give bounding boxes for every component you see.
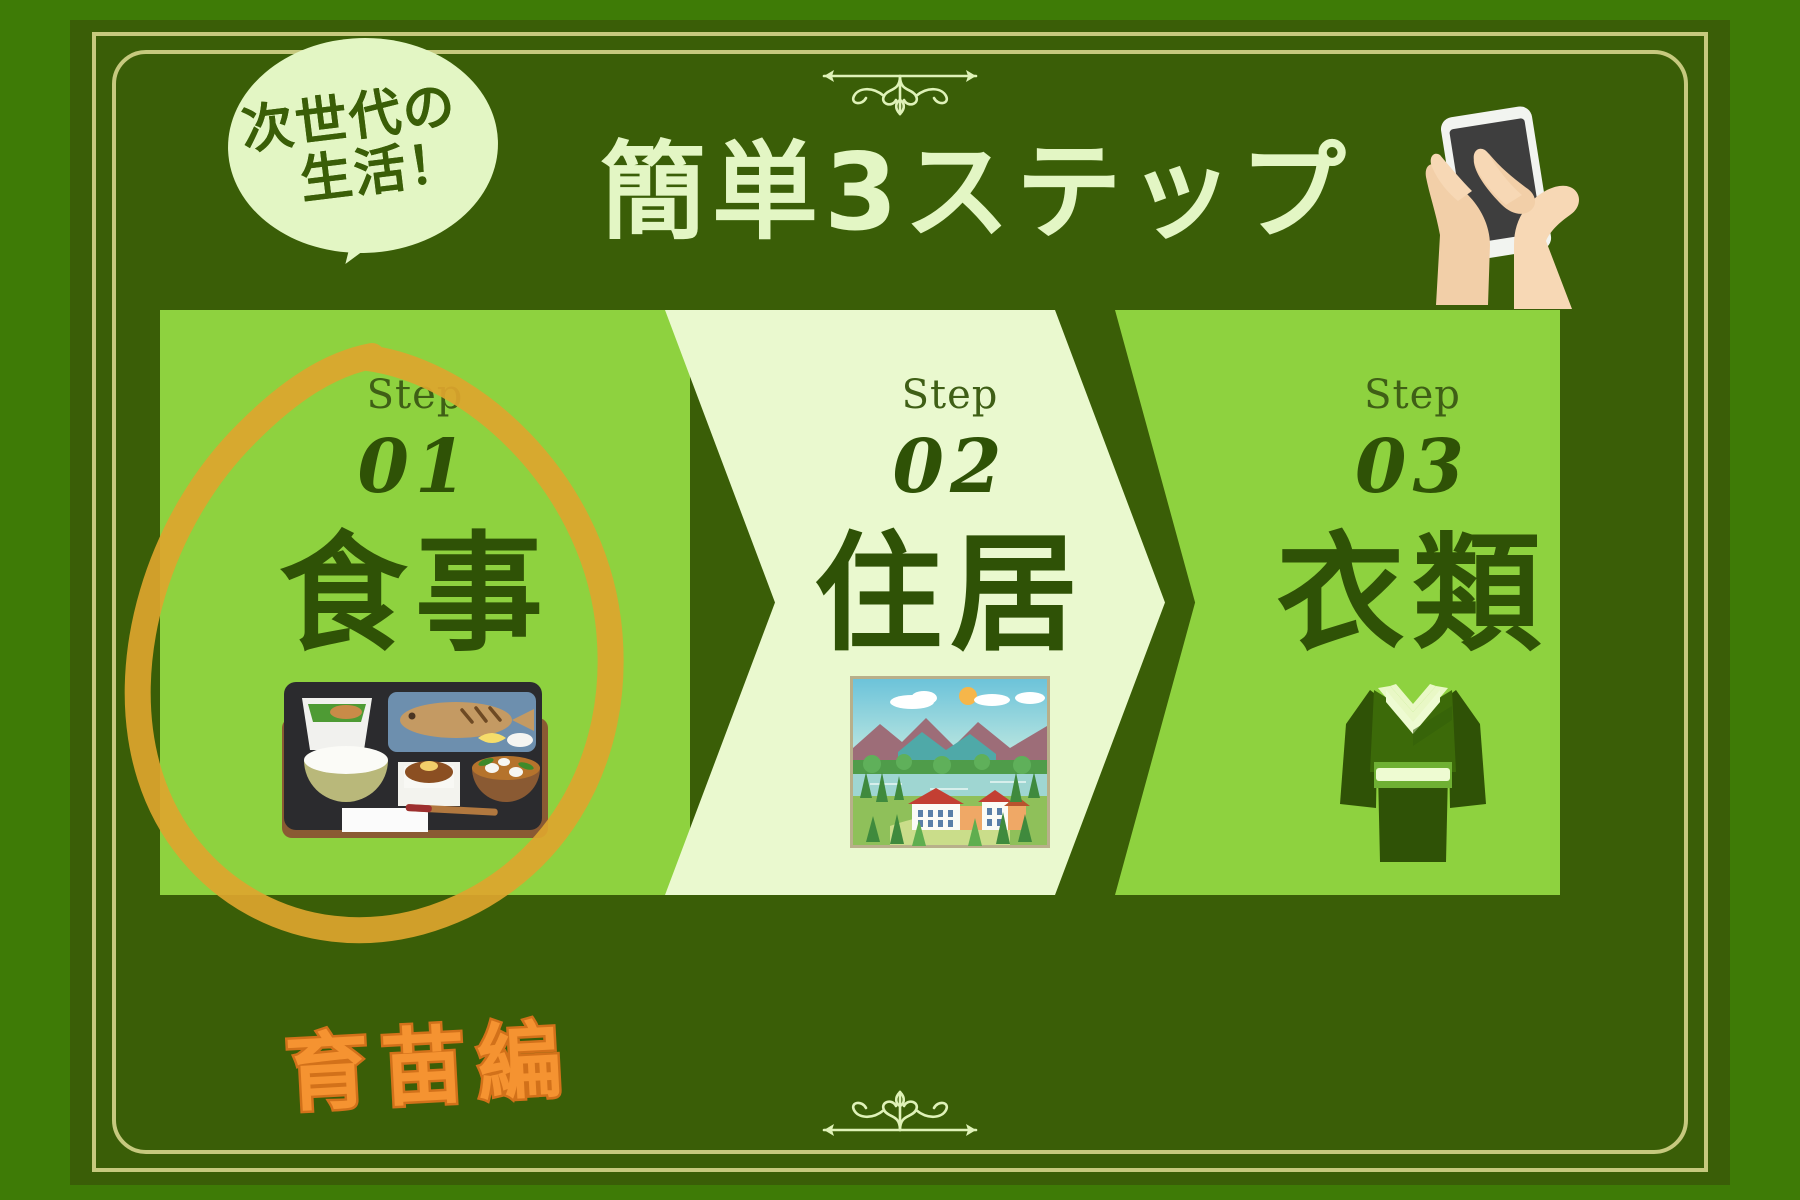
speech-bubble-text: 次世代の 生活！: [214, 20, 511, 270]
step-name-3: 衣類: [1276, 530, 1548, 658]
step-panel-2[interactable]: Step 02 住居: [665, 310, 1165, 895]
step-label-1: Step: [367, 372, 464, 418]
step-panel-1[interactable]: Step 01 食事: [160, 310, 690, 895]
japanese-set-meal-tray-icon: [280, 676, 550, 846]
green-kimono-icon: [1318, 676, 1508, 866]
steps-container: Step 01 食事: [160, 310, 1560, 895]
step-panel-3[interactable]: Step 03 衣類: [1115, 310, 1560, 895]
step-name-2: 住居: [814, 530, 1086, 658]
hand-holding-smartphone-icon: [1410, 95, 1610, 310]
step-number-1: 01: [358, 424, 473, 510]
step-label-3: Step: [1364, 372, 1461, 418]
step-name-1: 食事: [279, 530, 551, 658]
main-title: 簡単3ステップ: [600, 140, 1280, 246]
flourish-ornament-bottom: [800, 1086, 1000, 1144]
countryside-landscape-picture-icon: [850, 676, 1050, 848]
step-number-2: 02: [893, 424, 1008, 510]
poster-canvas: 次世代の 生活！ 簡単3ステップ Step 01 食事: [0, 0, 1800, 1200]
flourish-ornament-top: [800, 62, 1000, 120]
step-number-3: 03: [1355, 424, 1470, 510]
orange-caption: 育苗編: [282, 993, 576, 1129]
step-label-2: Step: [902, 372, 999, 418]
